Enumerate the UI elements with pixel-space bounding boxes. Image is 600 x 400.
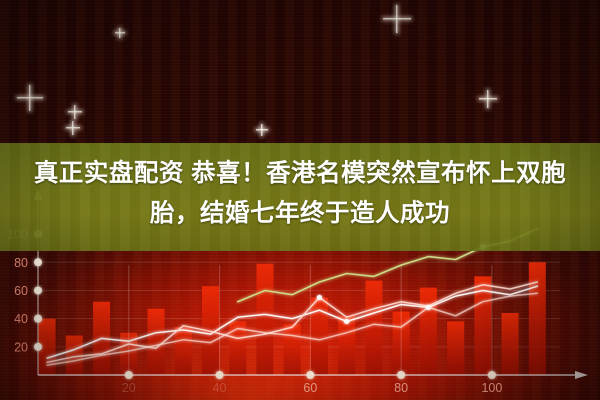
y-tick-label: 80 [14, 256, 28, 270]
y-tick-marker [34, 343, 42, 351]
headline-line-1: 真正实盘配资 恭喜！香港名模突然宣布怀上双胞 [0, 154, 600, 194]
bar [365, 281, 382, 375]
y-tick-marker [34, 258, 42, 266]
x-tick-marker [488, 371, 496, 379]
x-tick-label: 40 [213, 381, 227, 395]
x-tick-marker [216, 371, 224, 379]
bar [148, 309, 165, 375]
y-tick-label: 20 [14, 340, 28, 354]
x-tick-label: 100 [481, 381, 502, 395]
x-axis-arrow-icon [575, 371, 588, 379]
x-tick-marker [397, 371, 405, 379]
y-tick-label: 60 [14, 284, 28, 298]
y-tick-marker [34, 315, 42, 323]
data-point [426, 305, 431, 310]
x-tick-label: 80 [394, 381, 408, 395]
data-point [317, 295, 322, 300]
x-tick-label: 60 [303, 381, 317, 395]
y-tick-marker [34, 286, 42, 294]
x-tick-marker [306, 371, 314, 379]
page-title: 真正实盘配资 恭喜！香港名模突然宣布怀上双胞 胎，结婚七年终于造人成功 [0, 154, 600, 234]
headline-line-2: 胎，结婚七年终于造人成功 [0, 194, 600, 234]
bar [529, 262, 546, 375]
bar [420, 288, 437, 375]
bar [175, 327, 192, 375]
bar [256, 264, 273, 375]
bar [66, 336, 83, 375]
y-tick-label: 40 [14, 312, 28, 326]
x-tick-marker [125, 371, 133, 379]
x-tick-label: 20 [122, 381, 136, 395]
bar [284, 324, 301, 375]
bar [447, 321, 464, 375]
promo-banner: 2040608010020406080100 真正实盘配资 恭喜！香港名模突然宣… [0, 0, 600, 400]
bar [502, 313, 519, 375]
bar [338, 316, 355, 375]
data-point [344, 319, 349, 324]
bar [311, 298, 328, 376]
